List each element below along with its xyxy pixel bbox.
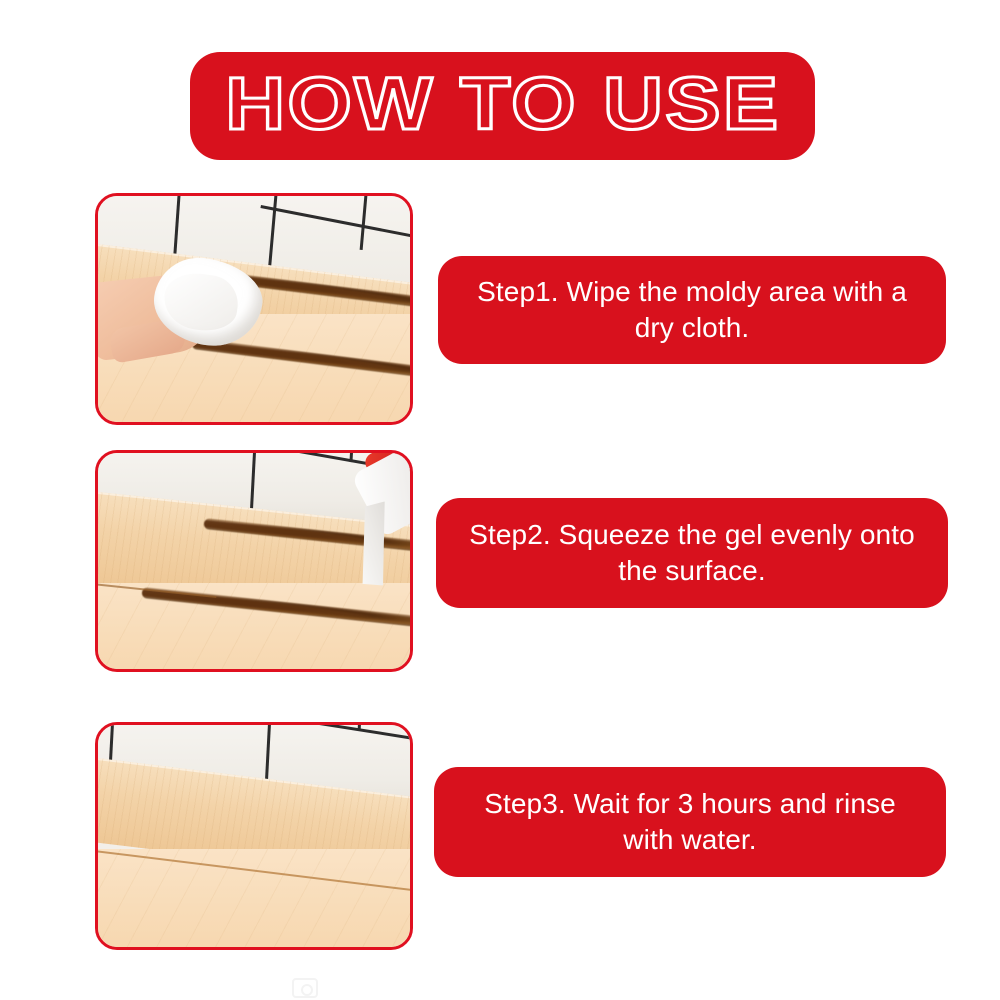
step-3-label: Step3. Wait for 3 hours and rinse with w… bbox=[456, 786, 924, 858]
step-2-text-box: Step2. Squeeze the gel evenly onto the s… bbox=[436, 498, 948, 608]
step-2-label: Step2. Squeeze the gel evenly onto the s… bbox=[458, 517, 926, 589]
camera-watermark-icon bbox=[292, 978, 318, 998]
grout-line bbox=[269, 725, 410, 744]
grout-line bbox=[360, 196, 369, 250]
step-3-text-box: Step3. Wait for 3 hours and rinse with w… bbox=[434, 767, 946, 877]
wiping-moldy-baseboard-photo bbox=[98, 196, 410, 422]
step-1-photo-frame bbox=[95, 193, 413, 425]
how-to-use-infographic: HOW TO USE Step1. Wipe the moldy area wi… bbox=[0, 0, 1000, 1000]
step-3-photo-frame bbox=[95, 722, 413, 950]
page-title-banner: HOW TO USE bbox=[190, 52, 815, 160]
page-title: HOW TO USE bbox=[225, 67, 780, 145]
step-1-text-box: Step1. Wipe the moldy area with a dry cl… bbox=[438, 256, 946, 364]
clean-baseboard-result-photo bbox=[98, 725, 410, 947]
step-1-label: Step1. Wipe the moldy area with a dry cl… bbox=[460, 274, 924, 346]
grout-line bbox=[261, 205, 410, 247]
applying-mold-remover-gel-photo bbox=[98, 453, 410, 669]
step-2-photo-frame bbox=[95, 450, 413, 672]
wood-floor bbox=[98, 849, 410, 947]
